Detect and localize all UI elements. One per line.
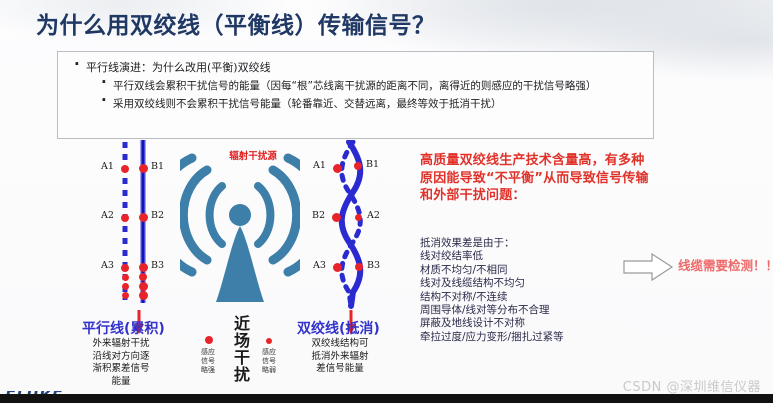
- node-dot-a1: [121, 165, 129, 173]
- node-label-a3: A3: [101, 260, 114, 271]
- bullet-level2-item: 平行双线会累积干扰信号的能量（因每“根”芯线离干扰源的距离不同，离得近的则感应的…: [100, 79, 645, 93]
- node-dot-a3: [333, 263, 342, 272]
- diagram-stage: A1 B1 A2 B2 A3 B3 平行线(累积) 外来辐射干扰沿线对方向逐渐积…: [0, 140, 773, 403]
- accumulated-dot: [139, 273, 147, 281]
- cause-item: 周围导体/线对等分布不合理: [420, 304, 655, 317]
- node-label-b1: B1: [366, 159, 379, 170]
- accumulated-dot: [139, 282, 148, 291]
- node-label-a1: A1: [101, 161, 114, 172]
- causes-title: 抵消效果差是由于：: [420, 237, 655, 250]
- node-label-b3: B3: [367, 260, 380, 271]
- antenna-graphic: [180, 140, 300, 340]
- antenna-emitter: [229, 204, 251, 226]
- accumulated-dot: [139, 291, 148, 300]
- node-dot-b2: [139, 213, 148, 222]
- wave-left-inner: [210, 186, 222, 244]
- bullet-level1: 平行线演进：为什么改用(平衡)双绞线: [72, 60, 645, 75]
- right-arrow-graphic: [622, 252, 674, 282]
- twisted-pair-diagram: A1 B1 B2 A2 A3 B3: [305, 140, 415, 340]
- twisted-pair-caption: 双绞线(抵消): [297, 318, 380, 338]
- cause-item: 线对及线缆结构不均匀: [420, 277, 655, 290]
- node-label-b2: B2: [312, 210, 325, 221]
- callout-text: 线缆需要检测！！: [678, 255, 773, 274]
- bullet-box: 平行线演进：为什么改用(平衡)双绞线 平行双线会累积干扰信号的能量（因每“根”芯…: [57, 51, 654, 139]
- node-dot-b3: [139, 263, 148, 272]
- twisted-pair-note: 双绞线结构可抵消外来辐射差信号能量: [309, 338, 371, 376]
- node-label-b3: B3: [151, 260, 164, 271]
- antenna-icon: [180, 140, 300, 340]
- induction-dot-strong: [205, 336, 213, 344]
- accumulated-dot: [122, 274, 129, 281]
- page-title: 为什么用双绞线（平衡线）传输信号？: [36, 6, 436, 40]
- parallel-pair-caption: 平行线(累积): [82, 318, 165, 338]
- node-label-a1: A1: [313, 160, 326, 171]
- right-arrow-icon: [622, 252, 674, 282]
- near-field-caption: 近场干扰: [231, 315, 249, 383]
- cause-item: 牵拉过度/应力变形/捆扎过紧等: [420, 331, 655, 344]
- node-dot-a1: [333, 164, 342, 173]
- node-label-b2: B2: [151, 210, 164, 221]
- node-dot-a2: [355, 214, 362, 221]
- cause-item: 结构不对称/不连续: [420, 291, 655, 304]
- node-dot-b3: [355, 263, 363, 271]
- node-dot-b1: [354, 162, 362, 170]
- slide-canvas: 为什么用双绞线（平衡线）传输信号？ 平行线演进：为什么改用(平衡)双绞线 平行双…: [0, 0, 773, 403]
- induction-dot-weak: [266, 338, 272, 344]
- node-label-a3: A3: [313, 260, 326, 271]
- analysis-headline: 高质量双绞线生产技术含量高，有多种原因能导致“不平衡”从而导致信号传输和外部干扰…: [420, 152, 655, 205]
- accumulated-dot: [122, 283, 129, 290]
- node-dot-b2: [332, 213, 341, 222]
- parallel-pair-note: 外来辐射干扰沿线对方向逐渐积累差信号能量: [88, 338, 154, 388]
- cause-item: 屏蔽及地线设计不对称: [420, 317, 655, 330]
- wave-left-mid: [183, 170, 207, 260]
- csdn-watermark: CSDN @深圳维信仪器: [623, 376, 761, 395]
- node-dot-a3: [121, 264, 129, 272]
- cause-item: 线对绞结率低: [420, 250, 655, 263]
- induction-note-strong: 感应信号略强: [198, 348, 218, 375]
- induction-note-weak: 感应信号略弱: [259, 348, 279, 375]
- wave-right-mid: [273, 170, 297, 260]
- antenna-tower: [216, 226, 264, 302]
- causes-list: 抵消效果差是由于： 线对绞结率低 材质不均匀/不相同 线对及线缆结构不均匀 结构…: [420, 237, 655, 344]
- cause-item: 材质不均匀/不相同: [420, 264, 655, 277]
- wave-right-inner: [258, 186, 270, 244]
- node-label-a2: A2: [367, 210, 380, 221]
- node-label-a2: A2: [101, 210, 114, 221]
- accumulated-dot: [122, 292, 129, 299]
- node-dot-b1: [139, 164, 148, 173]
- bullet-level2-item: 采用双绞线则不会累积干扰信号能量（轮番靠近、交替远离，最终等效于抵消干扰）: [100, 97, 645, 111]
- bottom-bar: [0, 394, 773, 403]
- node-dot-a2: [121, 214, 129, 222]
- node-label-b1: B1: [151, 161, 164, 172]
